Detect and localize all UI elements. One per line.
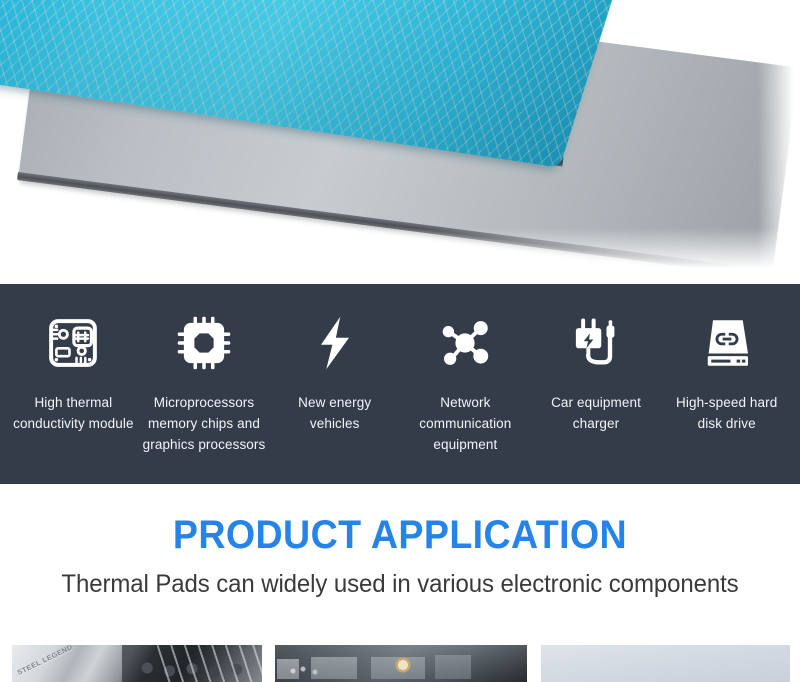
application-item-high-thermal-conductivity-module[interactable]: High thermal conductivity module (8, 284, 139, 434)
application-item-label: Microprocessors memory chips and graphic… (141, 392, 267, 455)
ssd-circuit-board-image (275, 645, 527, 682)
application-band: High thermal conductivity module (0, 284, 800, 484)
application-item-network-communication[interactable]: Network communication equipment (400, 284, 531, 455)
application-item-label: New energy vehicles (272, 392, 398, 434)
application-item-new-energy-vehicles[interactable]: New energy vehicles (269, 284, 400, 434)
microprocessor-chip-icon (167, 306, 241, 380)
motherboard-heatsink-image (12, 645, 262, 682)
page-subtitle: Thermal Pads can widely used in various … (16, 559, 784, 600)
hero-bottom-fade (0, 228, 800, 284)
product-application-page: High thermal conductivity module (0, 0, 800, 682)
application-item-label: Car equipment charger (533, 392, 659, 434)
application-item-label: High thermal conductivity module (10, 392, 136, 434)
headline-block: PRODUCT APPLICATION Thermal Pads can wid… (0, 484, 800, 636)
application-item-car-equipment-charger[interactable]: Car equipment charger (531, 284, 662, 434)
network-nodes-icon (428, 306, 502, 380)
circuit-board-icon (36, 306, 110, 380)
charger-plug-icon (559, 306, 633, 380)
hard-disk-drive-icon (690, 306, 764, 380)
gallery-tile-ssd-circuit-board-photo[interactable] (275, 645, 527, 682)
application-item-microprocessors[interactable]: Microprocessors memory chips and graphic… (139, 284, 270, 455)
page-title: PRODUCT APPLICATION (24, 484, 776, 559)
light-panel-image (541, 645, 790, 682)
application-item-label: Network communication equipment (402, 392, 528, 455)
gallery-tile-light-panel-photo[interactable] (541, 645, 790, 682)
application-gallery: STEEL LEGEND (0, 645, 800, 682)
gallery-tile-motherboard-heatsink-photo[interactable]: STEEL LEGEND (12, 645, 262, 682)
lightning-bolt-icon (298, 306, 372, 380)
application-item-hard-disk-drive[interactable]: High-speed hard disk drive (661, 284, 792, 434)
hero-product-photo (0, 0, 800, 284)
application-item-label: High-speed hard disk drive (664, 392, 790, 434)
